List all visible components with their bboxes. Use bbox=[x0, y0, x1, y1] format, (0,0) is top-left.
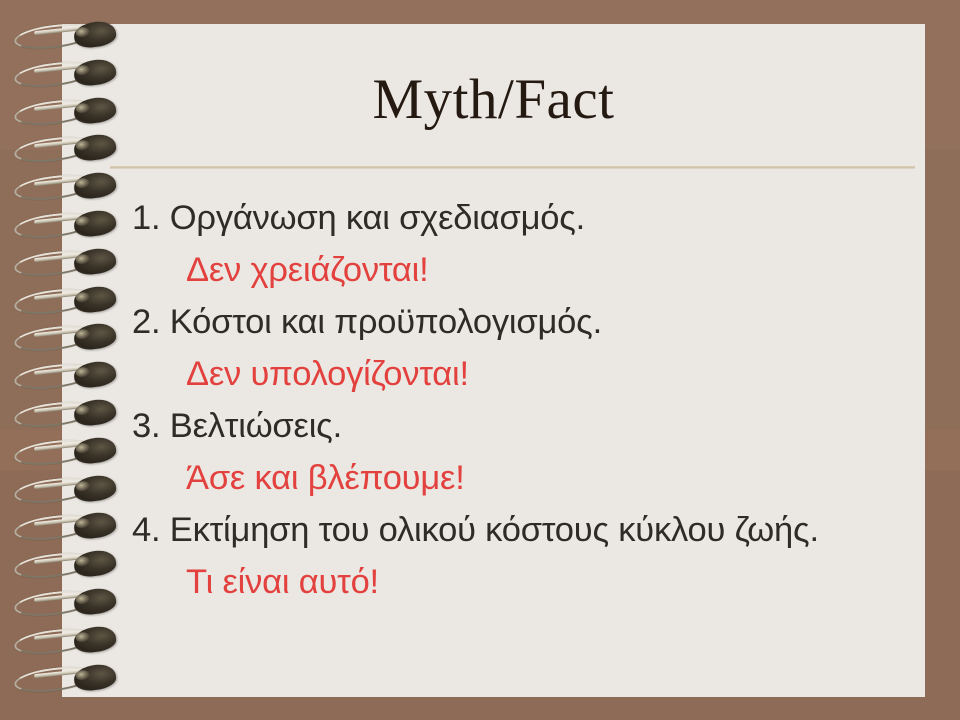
page-title: Myth/Fact bbox=[62, 70, 925, 130]
title-divider bbox=[110, 166, 915, 169]
body-text-block: 1. Οργάνωση και σχεδιασμός. Δεν χρειάζον… bbox=[132, 192, 922, 608]
list-item-statement-4: 4. Εκτίμηση του ολικού κόστους κύκλου ζω… bbox=[132, 504, 922, 556]
list-item-answer-2: Δεν υπολογίζονται! bbox=[132, 348, 922, 400]
list-item-statement-2: 2. Κόστοι και προϋπολογισμός. bbox=[132, 296, 922, 348]
list-item-answer-3: Άσε και βλέπουμε! bbox=[132, 452, 922, 504]
page-content-area: Myth/Fact 1. Οργάνωση και σχεδιασμός. Δε… bbox=[62, 24, 925, 697]
list-item-statement-3: 3. Βελτιώσεις. bbox=[132, 400, 922, 452]
notebook-page: Myth/Fact 1. Οργάνωση και σχεδιασμός. Δε… bbox=[62, 24, 925, 697]
list-item-answer-1: Δεν χρειάζονται! bbox=[132, 244, 922, 296]
list-item-answer-4: Τι είναι αυτό! bbox=[132, 556, 922, 608]
list-item-statement-1: 1. Οργάνωση και σχεδιασμός. bbox=[132, 192, 922, 244]
